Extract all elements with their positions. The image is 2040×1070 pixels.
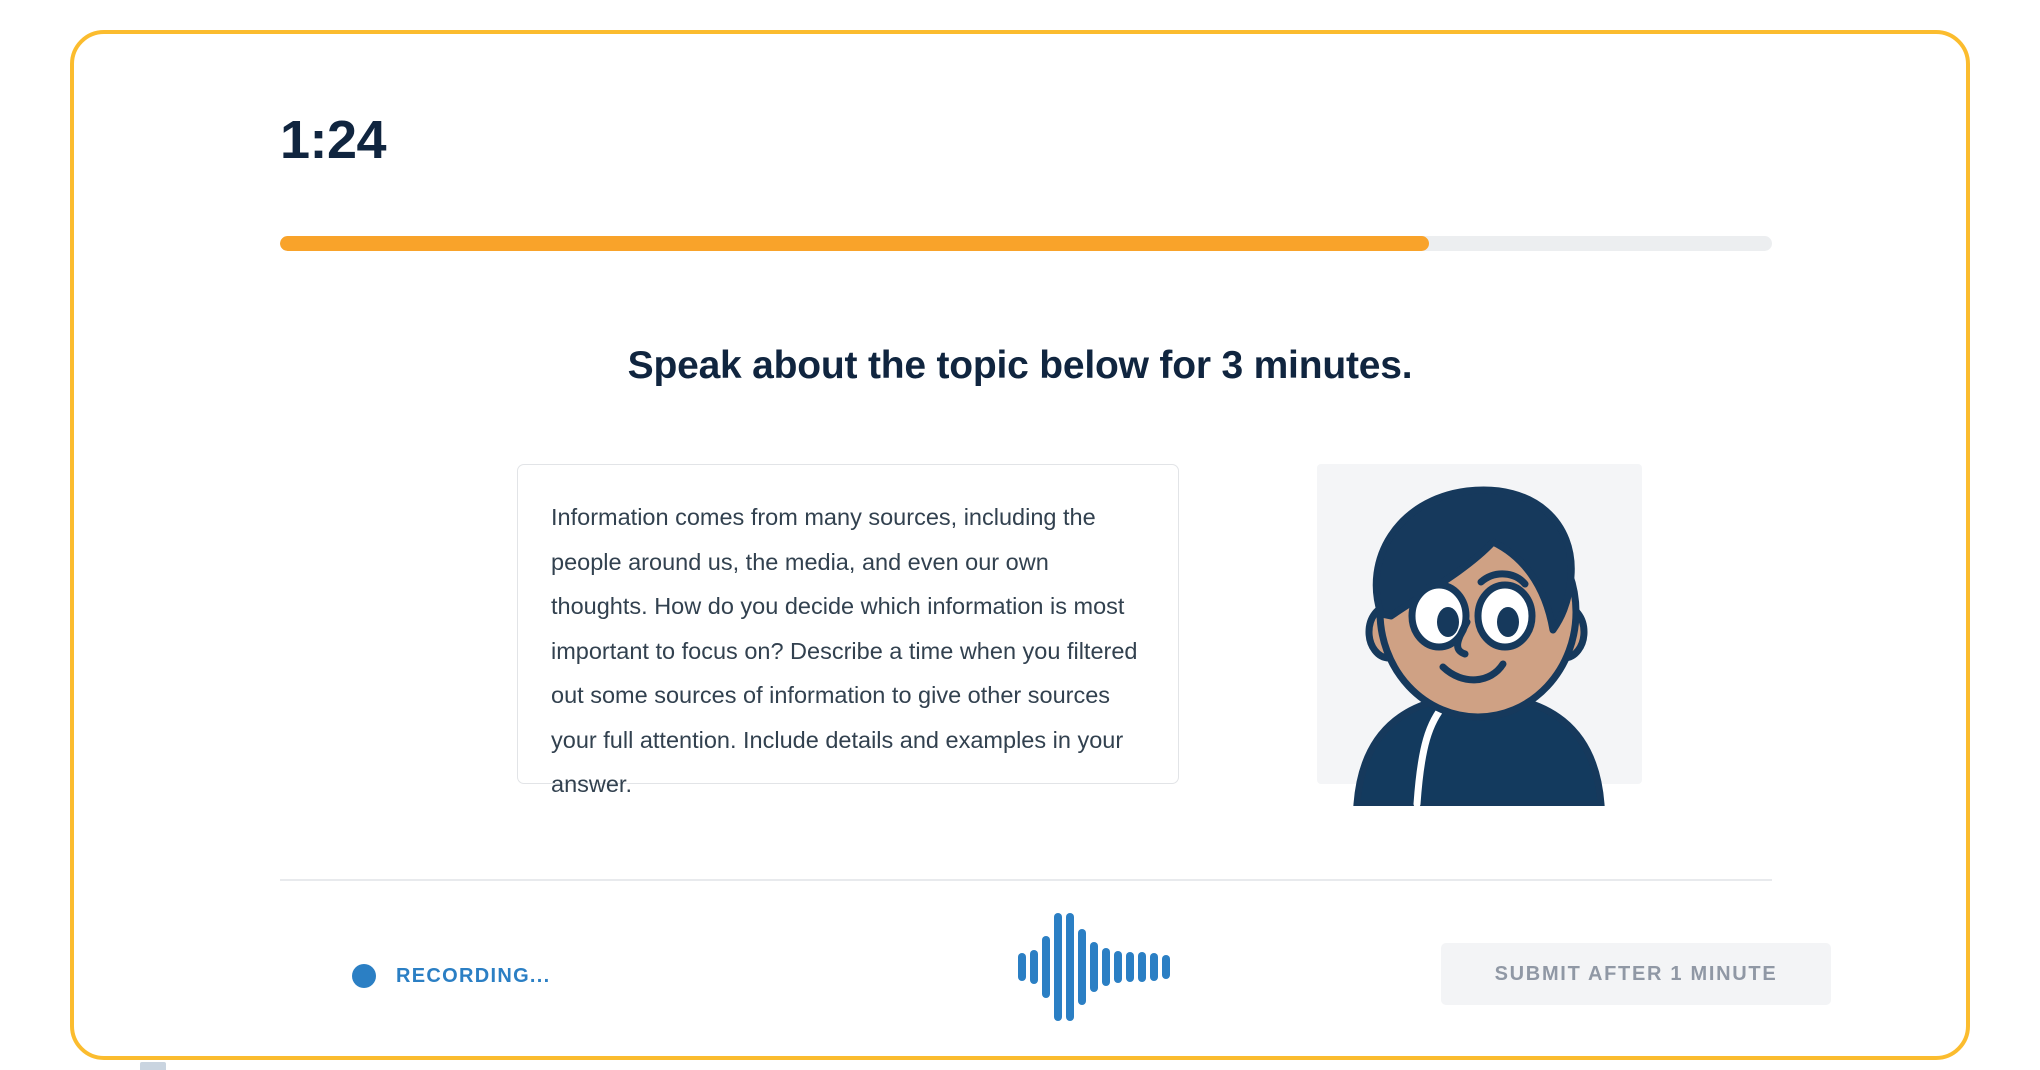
offscreen-content-sliver [140,1062,166,1070]
recording-label: RECORDING... [396,965,551,988]
waveform-bar [1066,913,1074,1021]
waveform-bar [1126,952,1134,982]
progress-bar-fill [280,236,1429,251]
avatar-panel [1317,464,1642,784]
submit-button[interactable]: SUBMIT AFTER 1 MINUTE [1441,943,1831,1005]
prompt-card: Information comes from many sources, inc… [517,464,1179,784]
waveform-bar [1078,929,1086,1005]
avatar-illustration [1317,464,1642,804]
waveform-bar [1114,951,1122,983]
waveform-bar [1150,953,1158,981]
waveform-bar [1102,948,1110,986]
task-heading: Speak about the topic below for 3 minute… [74,344,1966,388]
speaking-task-screen: 1:24 Speak about the topic below for 3 m… [0,0,2040,1070]
progress-bar-track [280,236,1772,251]
countdown-timer: 1:24 [280,109,386,171]
waveform-bar [1090,942,1098,992]
waveform-bar [1042,936,1050,998]
waveform-bar [1018,953,1026,981]
task-card: 1:24 Speak about the topic below for 3 m… [70,30,1970,1060]
waveform-bar [1054,913,1062,1021]
waveform-bar [1138,952,1146,982]
waveform-bar [1030,950,1038,984]
audio-waveform-icon [1014,912,1174,1022]
waveform-bar [1162,955,1170,979]
recording-status: RECORDING... [352,964,551,988]
footer-divider [280,879,1772,881]
task-content-row: Information comes from many sources, inc… [274,464,1774,794]
prompt-text: Information comes from many sources, inc… [551,495,1145,807]
recording-dot-icon [352,964,376,988]
